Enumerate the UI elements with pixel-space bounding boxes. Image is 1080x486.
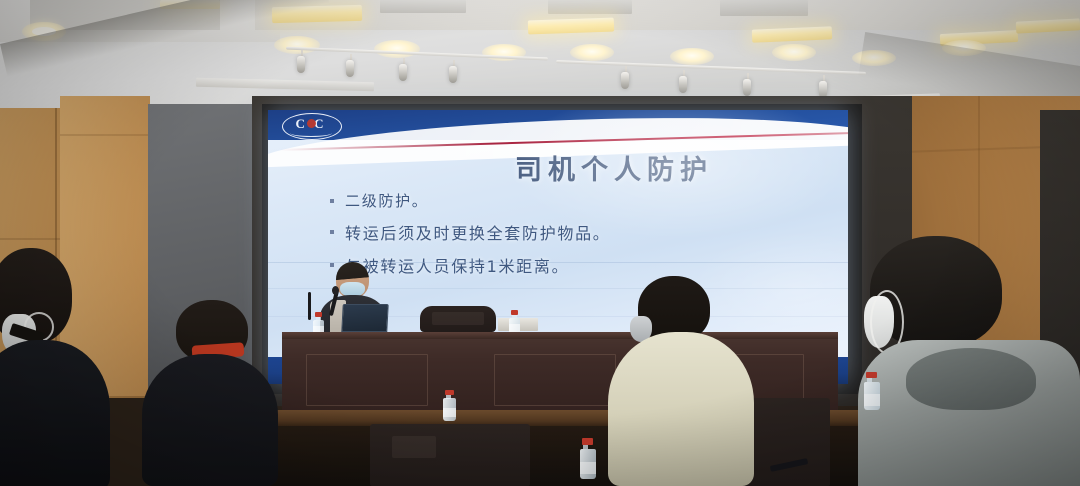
- audience-left-front: [0, 248, 110, 486]
- ceiling-vent: [720, 0, 808, 16]
- list-item: 二级防护。: [330, 190, 611, 211]
- laptop: [341, 304, 388, 332]
- chair-back-highlight: [392, 436, 436, 458]
- water-bottle: [580, 438, 596, 478]
- downlight: [374, 40, 420, 58]
- audience-right-front: [848, 236, 1080, 486]
- troffer-light: [752, 26, 832, 42]
- water-bottle: [443, 390, 456, 422]
- slide-title: 司机个人防护: [268, 148, 848, 187]
- bottle-label: [864, 394, 880, 406]
- bullet-marker: [330, 199, 334, 203]
- bottle-label: [443, 408, 456, 417]
- cdc-oval-logo: C C: [282, 113, 340, 139]
- light-track-rail: [556, 60, 866, 75]
- downlight: [772, 44, 816, 61]
- meeting-room-photo: C C 司机个人防护 二级防护。 转运后须及时更换全套防护物品。 与被转运人员保…: [0, 0, 1080, 486]
- downlight: [570, 44, 614, 61]
- bullet-marker: [330, 230, 334, 234]
- bullet-text: 二级防护。: [345, 190, 429, 211]
- bullet-text: 转运后须及时更换全套防护物品。: [345, 220, 611, 244]
- downlight: [670, 48, 714, 65]
- logo-red-dot: [307, 119, 316, 128]
- logo-swish: [290, 129, 332, 137]
- torso: [142, 354, 278, 486]
- torso: [0, 340, 110, 486]
- bottle-cap: [582, 438, 593, 445]
- ceiling-vent: [380, 0, 466, 13]
- audience-center-right: [608, 276, 758, 486]
- jacket-hood: [906, 348, 1036, 410]
- ceiling-vent: [548, 0, 632, 14]
- wall-seam: [60, 134, 150, 136]
- table-front-panel: [494, 354, 616, 406]
- audience-left-second: [140, 300, 280, 486]
- chair-cushion-highlight: [432, 312, 484, 325]
- troffer-light: [1016, 18, 1080, 33]
- troffer-light: [528, 18, 614, 35]
- downlight: [274, 36, 320, 54]
- bottle-label: [580, 462, 596, 474]
- list-item: 转运后须及时更换全套防护物品。: [330, 220, 611, 244]
- ceiling-vent: [196, 78, 374, 92]
- microphone-stand: [308, 292, 311, 320]
- microphone-head: [332, 286, 339, 295]
- ceiling-slab: [255, 0, 1080, 30]
- water-bottle: [864, 372, 880, 410]
- table-front-panel: [306, 354, 428, 406]
- torso: [608, 332, 754, 486]
